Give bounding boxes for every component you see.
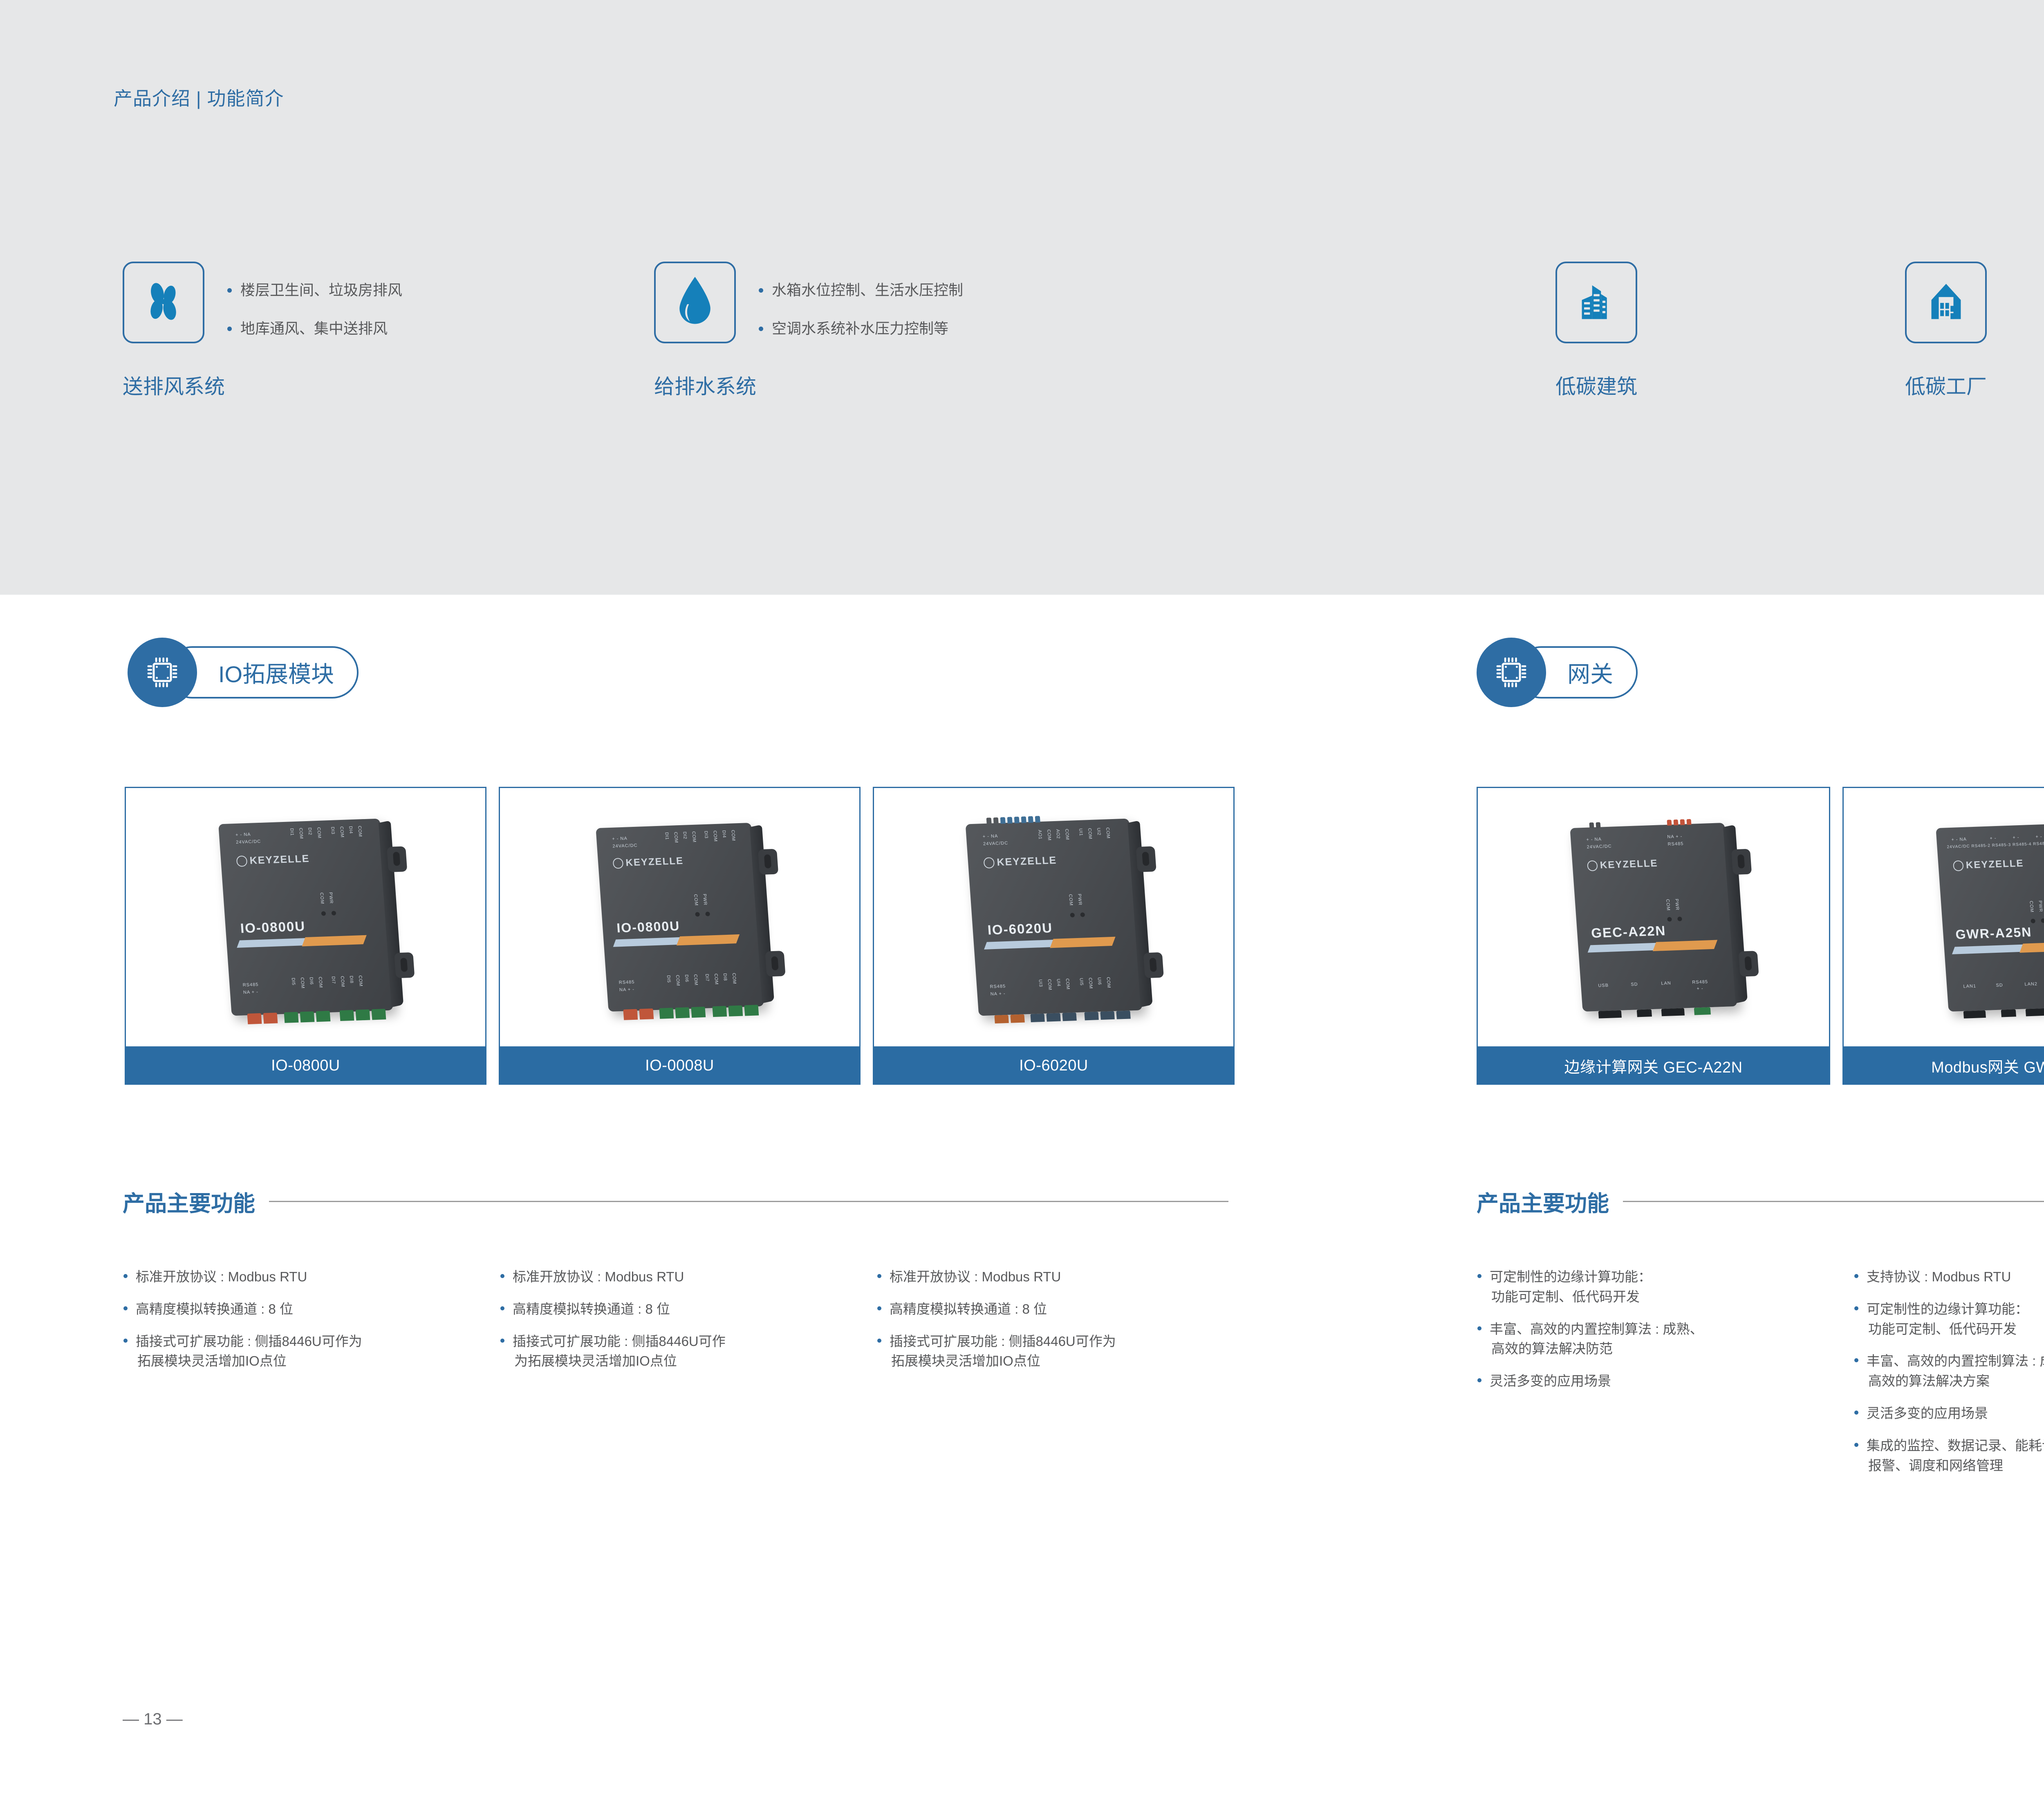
scenario-icon-card	[123, 262, 204, 343]
feature-columns-right: 可定制性的边缘计算功能： 功能可定制、低代码开发 丰富、高效的内置控制算法 : …	[1476, 1267, 2044, 1488]
list-item: 插接式可扩展功能 : 侧插8446U可作 为拓展模块灵活增加IO点位	[499, 1332, 863, 1372]
feature-text: 高精度模拟转换通道 : 8 位	[890, 1301, 1047, 1317]
factory-icon	[1923, 278, 1970, 327]
product-row-gateway: + - NA 24VAC/DC NA + - RS485 KEYZELLE CO…	[1477, 787, 2044, 1085]
product-image: + - NA 24VAC/DC AO1COMAO2COM UI1COMUI2CO…	[873, 787, 1235, 1046]
list-item: 空调水系统补水压力控制等	[756, 321, 1067, 336]
feature-text-cont: 拓展模块灵活增加IO点位	[890, 1351, 1239, 1371]
page-number-left: — 13 —	[123, 1710, 183, 1729]
scenario-block-water: 给排水系统 水箱水位控制、生活水压控制 空调水系统补水压力控制等	[654, 262, 756, 400]
product-card[interactable]: + - NA 24VAC/DC RS485-2 RS485-3 RS485-4 …	[1842, 787, 2044, 1085]
list-item: 灵活多变的应用场景	[1476, 1371, 1840, 1391]
feature-text-cont: 拓展模块灵活增加IO点位	[136, 1351, 486, 1371]
product-card[interactable]: + - NA 24VAC/DC DI1COMDI2COM DI3COMDI4CO…	[499, 787, 861, 1085]
feature-column: 标准开放协议 : Modbus RTU 高精度模拟转换通道 : 8 位 插接式可…	[499, 1267, 863, 1384]
product-card[interactable]: + - NA 24VAC/DC NA + - RS485 KEYZELLE CO…	[1477, 787, 1830, 1085]
product-row-io: + - NA 24VAC/DC DI1COMDI2COM DI3COMDI4CO…	[125, 787, 1235, 1085]
list-item: 集成的监控、数据记录、能耗计量、 报警、调度和网络管理	[1853, 1436, 2044, 1476]
scenario-title: 给排水系统	[654, 370, 756, 400]
product-image: + - NA 24VAC/DC DI1COMDI2COM DI3COMDI4CO…	[499, 787, 861, 1046]
badge-label: IO拓展模块	[218, 656, 334, 689]
product-caption: IO-0800U	[125, 1046, 486, 1085]
list-item: 标准开放协议 : Modbus RTU	[122, 1267, 486, 1287]
product-caption: Modbus网关 GWR-A25N	[1842, 1046, 2044, 1085]
list-item: 标准开放协议 : Modbus RTU	[876, 1267, 1239, 1287]
target-title: 低碳工厂	[1905, 370, 1987, 400]
list-item: 可定制性的边缘计算功能： 功能可定制、低代码开发	[1476, 1267, 1840, 1307]
list-item: 灵活多变的应用场景	[1853, 1404, 2044, 1424]
features-heading-left: 产品主要功能	[123, 1185, 1228, 1218]
list-item: 高精度模拟转换通道 : 8 位	[876, 1299, 1239, 1319]
running-header-left: 产品介绍 | 功能简介	[114, 84, 284, 111]
product-caption: 边缘计算网关 GEC-A22N	[1477, 1046, 1830, 1085]
feature-text-cont: 功能可定制、低代码开发	[1490, 1287, 1840, 1307]
section-badge-gateway: 网关	[1477, 638, 1638, 707]
feature-text: 灵活多变的应用场景	[1490, 1373, 1611, 1388]
feature-text: 可定制性的边缘计算功能：	[1490, 1269, 1652, 1284]
features-heading-right: 产品主要功能	[1477, 1185, 2044, 1218]
list-item: 水箱水位控制、生活水压控制	[756, 283, 1067, 298]
device-illustration: + - NA 24VAC/DC DI1COMDI2COM DI3COMDI4CO…	[218, 819, 393, 1016]
feature-text: 高精度模拟转换通道 : 8 位	[136, 1301, 293, 1317]
feature-text: 灵活多变的应用场景	[1867, 1406, 1988, 1421]
product-card[interactable]: + - NA 24VAC/DC DI1COMDI2COM DI3COMDI4CO…	[125, 787, 486, 1085]
target-icon-card	[1555, 262, 1637, 343]
feature-text: 集成的监控、数据记录、能耗计量、	[1867, 1438, 2044, 1453]
product-image: + - NA 24VAC/DC RS485-2 RS485-3 RS485-4 …	[1842, 787, 2044, 1046]
feature-text: 丰富、高效的内置控制算法 : 成熟、	[1867, 1353, 2044, 1368]
feature-column: 可定制性的边缘计算功能： 功能可定制、低代码开发 丰富、高效的内置控制算法 : …	[1476, 1267, 1840, 1488]
scenario-icon-card	[654, 262, 736, 343]
heading-rule	[269, 1201, 1228, 1202]
feature-text-cont: 高效的算法解决防范	[1490, 1339, 1840, 1359]
list-item: 插接式可扩展功能 : 侧插8446U可作为 拓展模块灵活增加IO点位	[876, 1332, 1239, 1372]
list-item: 可定制性的边缘计算功能： 功能可定制、低代码开发	[1853, 1299, 2044, 1339]
water-drop-icon	[672, 275, 717, 330]
list-item: 标准开放协议 : Modbus RTU	[499, 1267, 863, 1287]
list-item: 高精度模拟转换通道 : 8 位	[122, 1299, 486, 1319]
device-illustration: + - NA 24VAC/DC DI1COMDI2COM DI3COMDI4CO…	[596, 823, 764, 1012]
list-item: 高精度模拟转换通道 : 8 位	[499, 1299, 863, 1319]
list-item: 地库通风、集中送排风	[225, 321, 536, 336]
feature-column: 标准开放协议 : Modbus RTU 高精度模拟转换通道 : 8 位 插接式可…	[876, 1267, 1239, 1384]
device-illustration: + - NA 24VAC/DC NA + - RS485 KEYZELLE CO…	[1570, 823, 1737, 1012]
list-item: 楼层卫生间、垃圾房排风	[225, 283, 536, 298]
feature-text: 支持协议 : Modbus RTU	[1867, 1269, 2011, 1284]
badge-label: 网关	[1567, 656, 1613, 689]
scenario-block-ventilation: 送排风系统 楼层卫生间、垃圾房排风 地库通风、集中送排风	[123, 262, 225, 400]
scenario-bullet-list: 楼层卫生间、垃圾房排风 地库通风、集中送排风	[225, 283, 536, 360]
list-item: 丰富、高效的内置控制算法 : 成熟、 高效的算法解决方案	[1853, 1351, 2044, 1391]
device-illustration: + - NA 24VAC/DC AO1COMAO2COM UI1COMUI2CO…	[965, 819, 1142, 1016]
product-caption: IO-6020U	[873, 1046, 1235, 1085]
section-badge-io: IO拓展模块	[128, 638, 359, 707]
feature-text-cont: 功能可定制、低代码开发	[1867, 1319, 2044, 1339]
feature-text: 插接式可扩展功能 : 侧插8446U可作为	[890, 1334, 1116, 1349]
list-item: 插接式可扩展功能 : 侧插8446U可作为 拓展模块灵活增加IO点位	[122, 1332, 486, 1372]
feature-text: 标准开放协议 : Modbus RTU	[890, 1269, 1061, 1284]
target-block-factory: 低碳工厂	[1905, 262, 1987, 400]
office-building-icon	[1573, 278, 1620, 327]
list-item: 丰富、高效的内置控制算法 : 成熟、 高效的算法解决防范	[1476, 1319, 1840, 1359]
features-title: 产品主要功能	[1477, 1185, 1609, 1218]
feature-column: 标准开放协议 : Modbus RTU 高精度模拟转换通道 : 8 位 插接式可…	[122, 1267, 486, 1384]
target-title: 低碳建筑	[1555, 370, 1637, 400]
feature-text: 插接式可扩展功能 : 侧插8446U可作为	[136, 1334, 362, 1349]
chip-icon	[1477, 638, 1546, 707]
chip-icon	[128, 638, 197, 707]
product-image: + - NA 24VAC/DC NA + - RS485 KEYZELLE CO…	[1477, 787, 1830, 1046]
fan-icon	[139, 277, 188, 328]
feature-text: 丰富、高效的内置控制算法 : 成熟、	[1490, 1321, 1703, 1337]
scenario-bullet-list: 水箱水位控制、生活水压控制 空调水系统补水压力控制等	[756, 283, 1067, 360]
features-title: 产品主要功能	[123, 1185, 255, 1218]
target-block-building: 低碳建筑	[1555, 262, 1637, 400]
product-image: + - NA 24VAC/DC DI1COMDI2COM DI3COMDI4CO…	[125, 787, 486, 1046]
feature-column: 支持协议 : Modbus RTU 可定制性的边缘计算功能： 功能可定制、低代码…	[1853, 1267, 2044, 1488]
list-item: 支持协议 : Modbus RTU	[1853, 1267, 2044, 1287]
feature-text: 标准开放协议 : Modbus RTU	[513, 1269, 684, 1284]
feature-text: 标准开放协议 : Modbus RTU	[136, 1269, 307, 1284]
device-illustration: + - NA 24VAC/DC RS485-2 RS485-3 RS485-4 …	[1936, 823, 2044, 1012]
scenario-title: 送排风系统	[123, 370, 225, 400]
feature-columns-left: 标准开放协议 : Modbus RTU 高精度模拟转换通道 : 8 位 插接式可…	[122, 1267, 1239, 1384]
feature-text-cont: 高效的算法解决方案	[1867, 1371, 2044, 1391]
product-caption: IO-0008U	[499, 1046, 861, 1085]
feature-text: 高精度模拟转换通道 : 8 位	[513, 1301, 670, 1317]
product-card[interactable]: + - NA 24VAC/DC AO1COMAO2COM UI1COMUI2CO…	[873, 787, 1235, 1085]
feature-text-cont: 报警、调度和网络管理	[1867, 1456, 2044, 1476]
heading-rule	[1623, 1201, 2044, 1202]
target-icon-card	[1905, 262, 1987, 343]
feature-text: 插接式可扩展功能 : 侧插8446U可作	[513, 1334, 726, 1349]
feature-text-cont: 为拓展模块灵活增加IO点位	[513, 1351, 863, 1371]
feature-text: 可定制性的边缘计算功能：	[1867, 1301, 2028, 1317]
